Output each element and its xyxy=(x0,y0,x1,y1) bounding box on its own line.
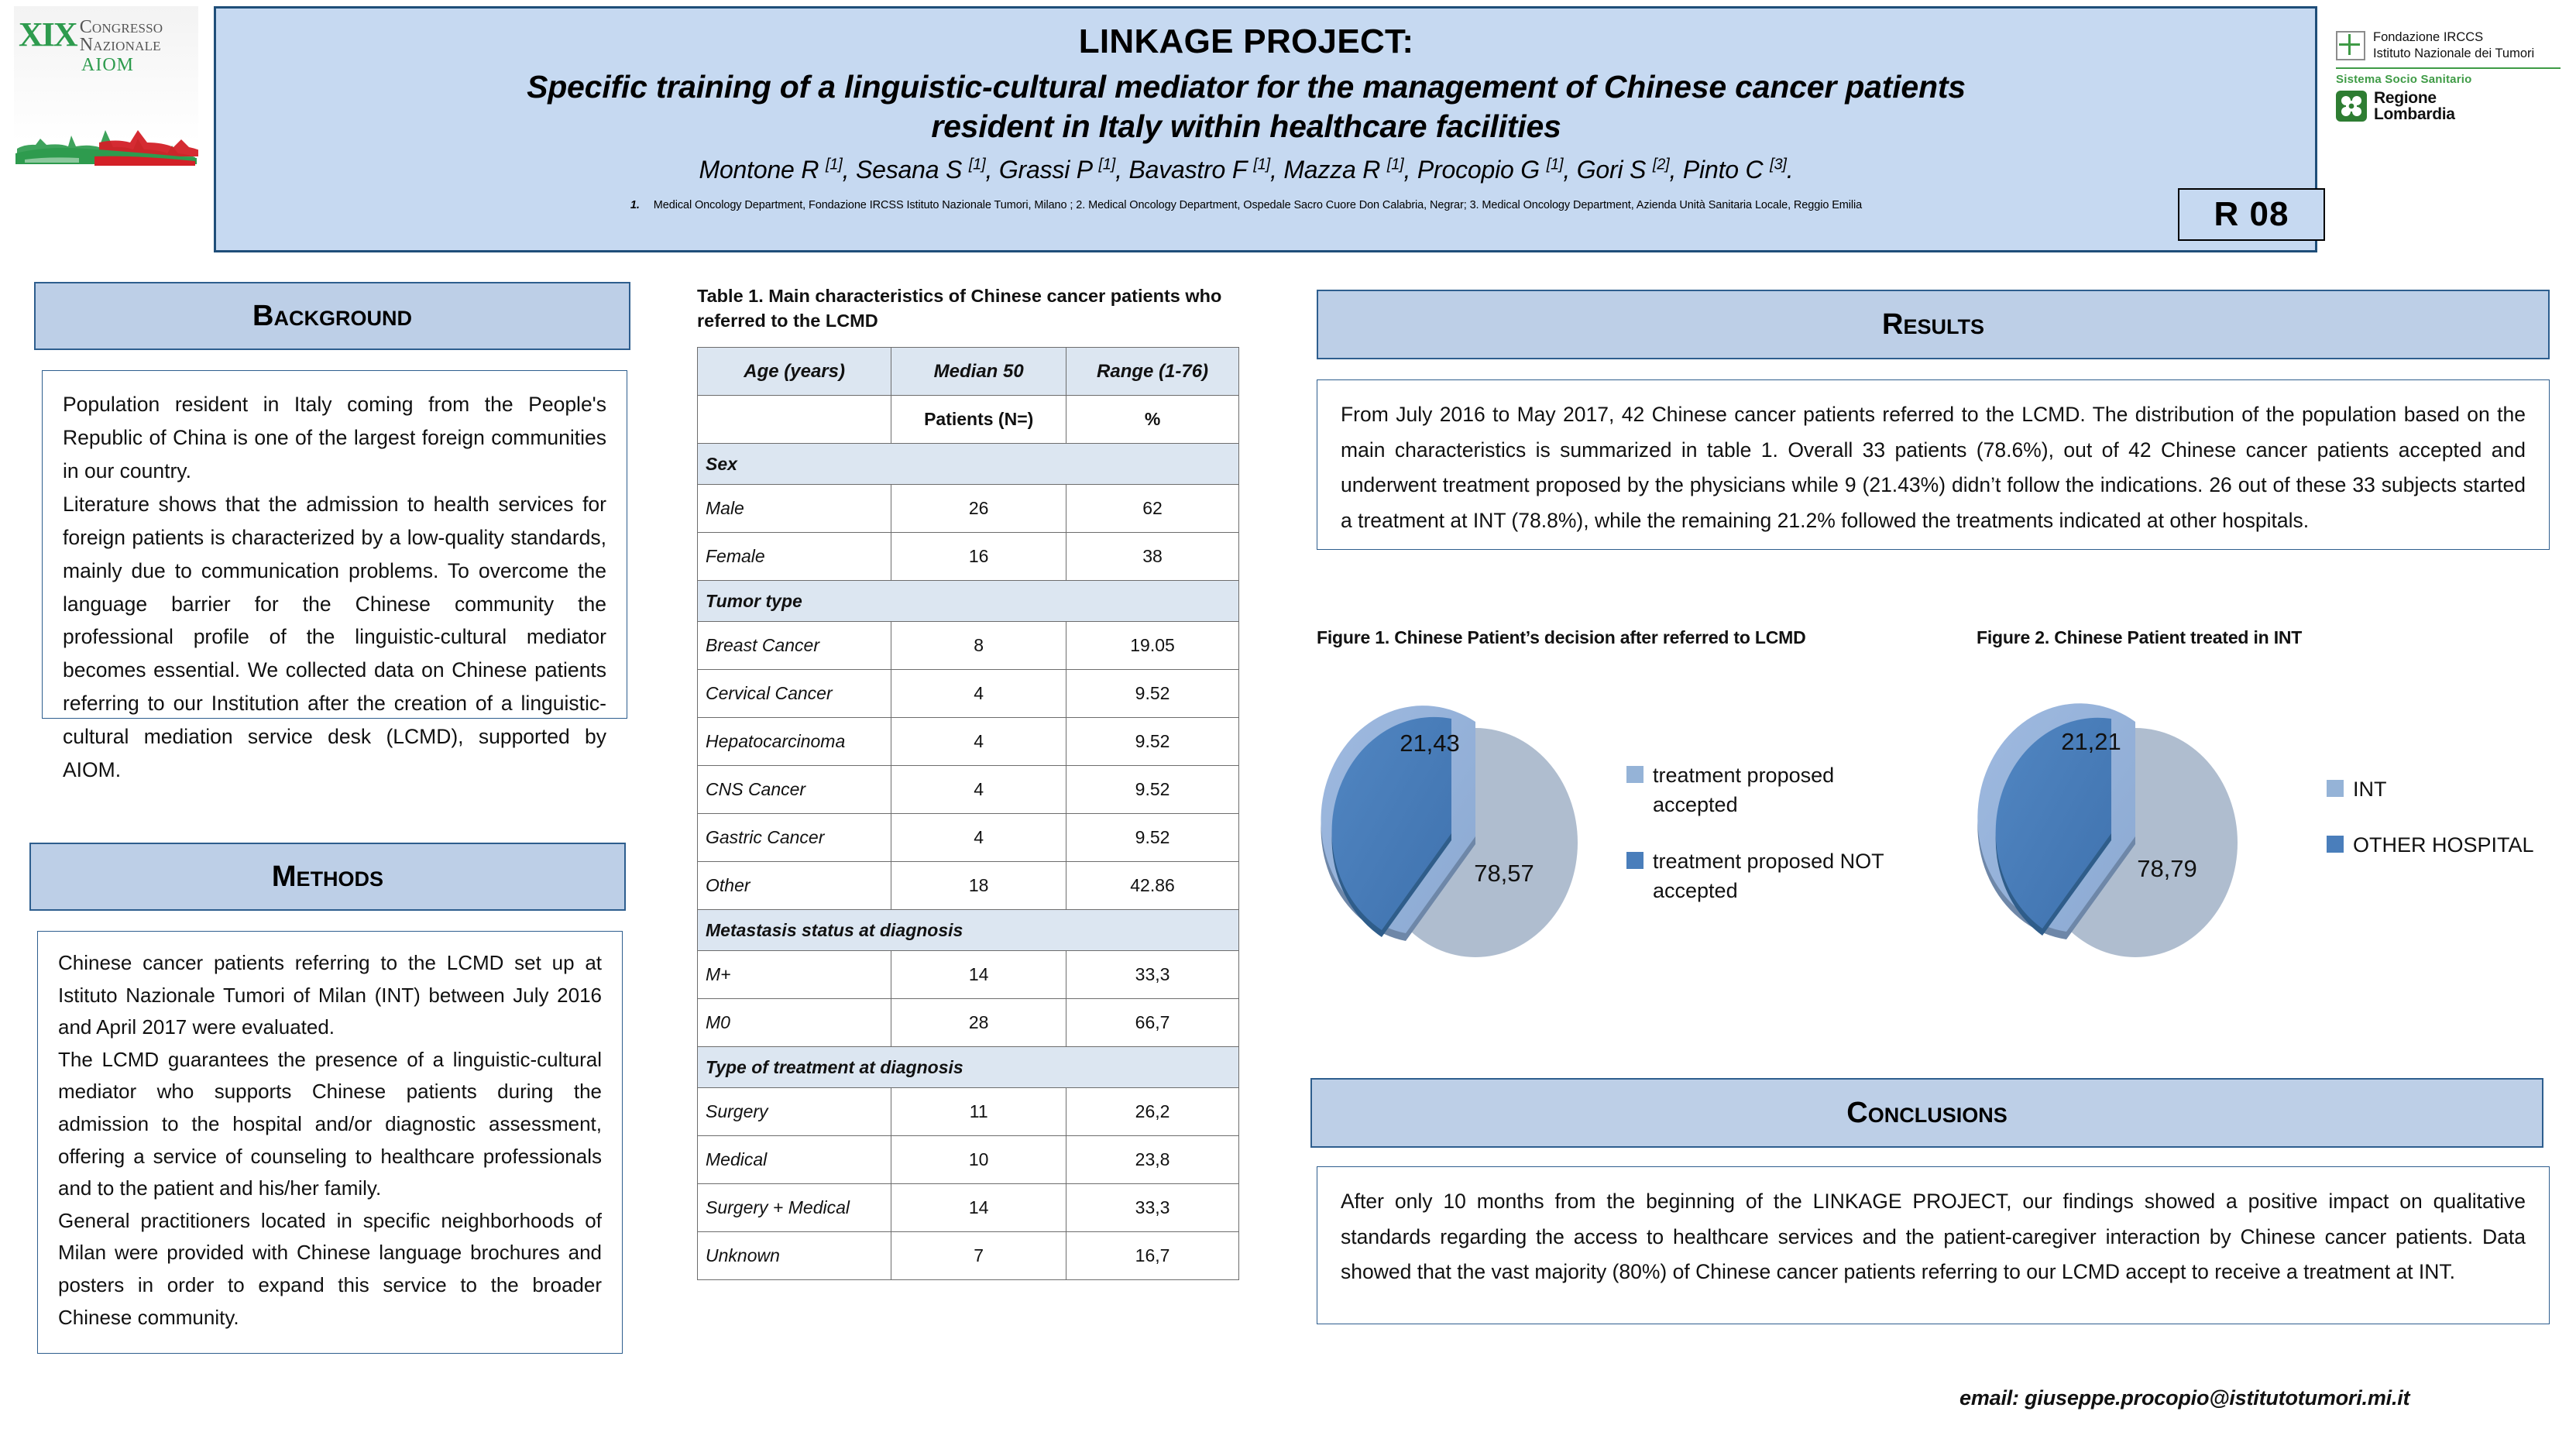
table-cell-label: Breast Cancer xyxy=(698,622,891,670)
table-group-row: Sex xyxy=(698,444,1239,485)
table-header-row: Age (years)Median 50Range (1-76) xyxy=(698,348,1239,396)
table-cell-percent: 33,3 xyxy=(1066,951,1239,999)
table-row: Female1638 xyxy=(698,533,1239,581)
table-cell-count: 14 xyxy=(891,1184,1066,1232)
table-cell-count: 7 xyxy=(891,1232,1066,1280)
figure2-chart: 21,21 78,79 INTOTHER HOSPITAL xyxy=(1977,666,2576,960)
title-block: LINKAGE PROJECT: Specific training of a … xyxy=(270,21,2222,213)
table-row: Surgery + Medical1433,3 xyxy=(698,1184,1239,1232)
table-cell-percent: 33,3 xyxy=(1066,1184,1239,1232)
main-characteristics-table: Age (years)Median 50Range (1-76)Patients… xyxy=(697,347,1239,1280)
irccs-line1: Fondazione IRCCS xyxy=(2373,30,2483,44)
logo-divider xyxy=(2336,67,2561,69)
figure2-legend-label: OTHER HOSPITAL xyxy=(2353,830,2534,860)
figure1-legend-label: treatment proposed accepted xyxy=(1653,761,1921,820)
table-group-label: Metastasis status at diagnosis xyxy=(698,910,1239,951)
regione-lombardia-text: Regione Lombardia xyxy=(2374,90,2455,122)
results-section-header: Results xyxy=(1317,290,2550,359)
aiom-line1: Congresso xyxy=(80,19,163,36)
table-group-row: Tumor type xyxy=(698,581,1239,622)
figure1-legend-item: treatment proposed NOT accepted xyxy=(1626,846,1921,906)
figure1-minor-value: 21,43 xyxy=(1400,730,1460,757)
background-section-header: Background xyxy=(34,282,630,350)
figure1-title: Figure 1. Chinese Patient’s decision aft… xyxy=(1317,627,1874,648)
figure2-pie-svg: 21,21 78,79 xyxy=(1977,666,2302,960)
table-cell-count: 4 xyxy=(891,814,1066,862)
poster-header-banner: LINKAGE PROJECT: Specific training of a … xyxy=(214,6,2317,252)
conclusions-section-header: Conclusions xyxy=(1310,1078,2543,1148)
conclusions-paragraph: After only 10 months from the beginning … xyxy=(1341,1184,2526,1290)
regione-lombardia-rose-icon xyxy=(2336,91,2367,122)
figure1-pie-svg: 21,43 78,57 xyxy=(1317,666,1626,960)
figure2-legend-swatch xyxy=(2327,836,2344,853)
table-cell-count: 26 xyxy=(891,485,1066,533)
methods-paragraph-3: General practitioners located in specifi… xyxy=(58,1205,602,1334)
table-cell-label: Male xyxy=(698,485,891,533)
table-cell-percent: 23,8 xyxy=(1066,1136,1239,1184)
table-group-row: Metastasis status at diagnosis xyxy=(698,910,1239,951)
table-cell-label: CNS Cancer xyxy=(698,766,891,814)
table-group-label: Sex xyxy=(698,444,1239,485)
table-group-label: Tumor type xyxy=(698,581,1239,622)
table-row: Male2662 xyxy=(698,485,1239,533)
table-cell-label: Surgery + Medical xyxy=(698,1184,891,1232)
aiom-line2: Nazionale xyxy=(80,36,163,54)
aiom-line3: AIOM xyxy=(19,55,197,76)
author-list: Montone R [1], Sesana S [1], Grassi P [1… xyxy=(270,156,2222,184)
table-cell-label: Cervical Cancer xyxy=(698,670,891,718)
results-paragraph: From July 2016 to May 2017, 42 Chinese c… xyxy=(1341,397,2526,538)
poster-title-sub-line1: Specific training of a linguistic-cultur… xyxy=(270,67,2222,107)
aiom-congress-words: CongressoNazionale xyxy=(80,19,163,54)
table-row: M+1433,3 xyxy=(698,951,1239,999)
table-cell-label: M0 xyxy=(698,999,891,1047)
figure1-major-value: 78,57 xyxy=(1474,860,1534,887)
table-cell-percent: 66,7 xyxy=(1066,999,1239,1047)
table-subheader-cell xyxy=(698,396,891,444)
affiliation-text: Medical Oncology Department, Fondazione … xyxy=(654,199,1862,211)
table-group-label: Type of treatment at diagnosis xyxy=(698,1047,1239,1088)
institution-logos: Fondazione IRCCS Istituto Nazionale dei … xyxy=(2328,9,2568,187)
regione-line2: Lombardia xyxy=(2374,105,2455,123)
table-cell-label: Gastric Cancer xyxy=(698,814,891,862)
table-cell-label: Female xyxy=(698,533,891,581)
aiom-congress-logo: XIXCongressoNazionale AIOM xyxy=(14,6,198,252)
table-row: Hepatocarcinoma49.52 xyxy=(698,718,1239,766)
table-header-cell: Age (years) xyxy=(698,348,891,396)
table-cell-count: 11 xyxy=(891,1088,1066,1136)
figure2-legend-item: OTHER HOSPITAL xyxy=(2327,830,2576,860)
table-cell-percent: 42.86 xyxy=(1066,862,1239,910)
conclusions-section-body: After only 10 months from the beginning … xyxy=(1317,1166,2550,1324)
table-cell-percent: 62 xyxy=(1066,485,1239,533)
table-cell-count: 28 xyxy=(891,999,1066,1047)
table-cell-percent: 9.52 xyxy=(1066,814,1239,862)
figure2-major-value: 78,79 xyxy=(2137,855,2197,882)
table-row: Cervical Cancer49.52 xyxy=(698,670,1239,718)
table-row: Gastric Cancer49.52 xyxy=(698,814,1239,862)
irccs-logo-text: Fondazione IRCCS Istituto Nazionale dei … xyxy=(2373,29,2534,61)
methods-section-header: Methods xyxy=(29,843,626,911)
table-row: Surgery1126,2 xyxy=(698,1088,1239,1136)
table-cell-count: 14 xyxy=(891,951,1066,999)
figure2-legend-item: INT xyxy=(2327,774,2576,804)
figure2-minor-value: 21,21 xyxy=(2061,728,2121,755)
table-cell-percent: 16,7 xyxy=(1066,1232,1239,1280)
table-cell-percent: 19.05 xyxy=(1066,622,1239,670)
methods-paragraph-2: The LCMD guarantees the presence of a li… xyxy=(58,1044,602,1205)
table-caption: Table 1. Main characteristics of Chinese… xyxy=(697,283,1239,334)
table-cell-label: Unknown xyxy=(698,1232,891,1280)
figure2-legend-swatch xyxy=(2327,780,2344,797)
irccs-cross-icon xyxy=(2336,31,2365,60)
figure1-legend-item: treatment proposed accepted xyxy=(1626,761,1921,820)
table-row: Medical1023,8 xyxy=(698,1136,1239,1184)
irccs-logo: Fondazione IRCCS Istituto Nazionale dei … xyxy=(2336,29,2568,61)
aiom-roman-numeral: XIX xyxy=(19,19,77,51)
table-cell-count: 10 xyxy=(891,1136,1066,1184)
regione-line1: Regione xyxy=(2374,89,2437,107)
table-cell-label: Hepatocarcinoma xyxy=(698,718,891,766)
table-subheader-row: Patients (N=)% xyxy=(698,396,1239,444)
background-paragraph-2: Literature shows that the admission to h… xyxy=(63,488,606,787)
background-paragraph-1: Population resident in Italy coming from… xyxy=(63,388,606,488)
table-cell-percent: 9.52 xyxy=(1066,670,1239,718)
figure2-legend: INTOTHER HOSPITAL xyxy=(2327,774,2576,887)
rome-skyline-icon xyxy=(14,105,198,177)
table-header-cell: Range (1-76) xyxy=(1066,348,1239,396)
table-cell-label: Medical xyxy=(698,1136,891,1184)
table-cell-count: 16 xyxy=(891,533,1066,581)
figure1-chart: 21,43 78,57 treatment proposed acceptedt… xyxy=(1317,666,1936,960)
table-row: Breast Cancer819.05 xyxy=(698,622,1239,670)
table-subheader-cell: Patients (N=) xyxy=(891,396,1066,444)
background-section-body: Population resident in Italy coming from… xyxy=(42,370,627,719)
aiom-logo-text: XIXCongressoNazionale AIOM xyxy=(19,19,197,76)
table-cell-count: 8 xyxy=(891,622,1066,670)
table-group-row: Type of treatment at diagnosis xyxy=(698,1047,1239,1088)
results-section-body: From July 2016 to May 2017, 42 Chinese c… xyxy=(1317,379,2550,550)
table-cell-label: Surgery xyxy=(698,1088,891,1136)
contact-email: email: giuseppe.procopio@istitutotumori.… xyxy=(1959,1386,2409,1410)
table-row: Unknown716,7 xyxy=(698,1232,1239,1280)
table-header-cell: Median 50 xyxy=(891,348,1066,396)
poster-code-badge: R 08 xyxy=(2178,188,2325,241)
table-cell-percent: 9.52 xyxy=(1066,718,1239,766)
irccs-line2: Istituto Nazionale dei Tumori xyxy=(2373,46,2534,60)
table-row: Other1842.86 xyxy=(698,862,1239,910)
table-cell-count: 4 xyxy=(891,718,1066,766)
figure1-legend-label: treatment proposed NOT accepted xyxy=(1653,846,1921,906)
table-subheader-cell: % xyxy=(1066,396,1239,444)
poster-title-sub-line2: resident in Italy within healthcare faci… xyxy=(270,107,2222,146)
table-cell-percent: 26,2 xyxy=(1066,1088,1239,1136)
figure1-legend-swatch xyxy=(1626,852,1643,869)
table-cell-percent: 9.52 xyxy=(1066,766,1239,814)
affiliations: 1.Medical Oncology Department, Fondazion… xyxy=(270,198,2222,213)
table-cell-count: 18 xyxy=(891,862,1066,910)
table-cell-label: M+ xyxy=(698,951,891,999)
table-cell-count: 4 xyxy=(891,766,1066,814)
poster-title-main: LINKAGE PROJECT: xyxy=(270,21,2222,63)
figure1-legend-swatch xyxy=(1626,766,1643,783)
regione-lombardia-logo: Regione Lombardia xyxy=(2336,90,2568,122)
methods-paragraph-1: Chinese cancer patients referring to the… xyxy=(58,947,602,1044)
sistema-socio-sanitario-label: Sistema Socio Sanitario xyxy=(2336,73,2568,86)
table-row: M02866,7 xyxy=(698,999,1239,1047)
methods-section-body: Chinese cancer patients referring to the… xyxy=(37,931,623,1354)
figure1-legend: treatment proposed acceptedtreatment pro… xyxy=(1626,761,1921,932)
figure2-legend-label: INT xyxy=(2353,774,2387,804)
table-row: CNS Cancer49.52 xyxy=(698,766,1239,814)
table-cell-label: Other xyxy=(698,862,891,910)
table-cell-percent: 38 xyxy=(1066,533,1239,581)
figure2-title: Figure 2. Chinese Patient treated in INT xyxy=(1977,627,2534,648)
affiliation-number: 1. xyxy=(630,199,640,211)
table-cell-count: 4 xyxy=(891,670,1066,718)
